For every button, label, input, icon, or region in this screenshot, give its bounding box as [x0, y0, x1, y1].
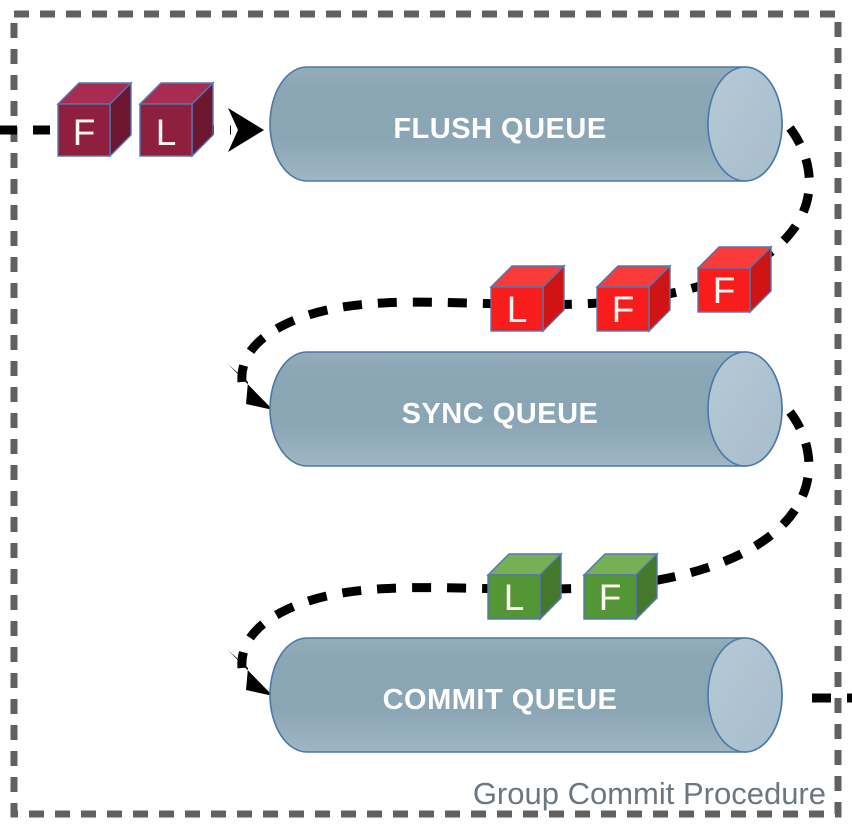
sync-to-commit-arrowhead — [228, 650, 273, 696]
cube-sync-2: F — [698, 247, 771, 312]
group-commit-diagram: FLUSH QUEUE L F — [0, 0, 852, 828]
queue-flush-cap — [708, 67, 782, 181]
cube-sync-0: L — [491, 266, 564, 331]
queue-sync-cap — [708, 352, 782, 466]
cube-sync-1-label: F — [612, 289, 635, 330]
queue-flush[interactable]: FLUSH QUEUE — [270, 67, 782, 181]
queue-flush-label: FLUSH QUEUE — [393, 113, 606, 145]
queue-commit-cap — [708, 638, 782, 752]
cube-commit-1: F — [584, 554, 657, 619]
cube-commit-0: L — [488, 554, 561, 619]
queue-commit[interactable]: COMMIT QUEUE — [270, 638, 782, 752]
cube-group-incoming-dark-red: F L — [58, 83, 213, 156]
input-arrowhead — [228, 108, 264, 152]
cube-sync-0-label: L — [507, 289, 528, 330]
cube-incoming-1: L — [140, 83, 213, 156]
connector-input-arrow — [0, 108, 264, 152]
queue-commit-label: COMMIT QUEUE — [383, 684, 618, 716]
cube-incoming-1-label: L — [156, 112, 177, 153]
diagram-caption: Group Commit Procedure — [473, 776, 826, 811]
cube-incoming-0-label: F — [73, 112, 96, 153]
queue-sync[interactable]: SYNC QUEUE — [270, 352, 782, 466]
flush-to-sync-arrowhead — [228, 364, 273, 410]
queue-sync-label: SYNC QUEUE — [402, 398, 599, 430]
cube-sync-2-label: F — [713, 270, 736, 311]
diagram-canvas: FLUSH QUEUE L F — [0, 0, 852, 828]
cube-incoming-0: F — [58, 83, 131, 156]
cube-commit-1-label: F — [599, 577, 622, 618]
cube-group-commit-green: L F — [488, 554, 657, 619]
cube-commit-0-label: L — [504, 577, 525, 618]
cube-sync-1: F — [597, 266, 670, 331]
cube-group-sync-red: L F F — [491, 247, 771, 331]
